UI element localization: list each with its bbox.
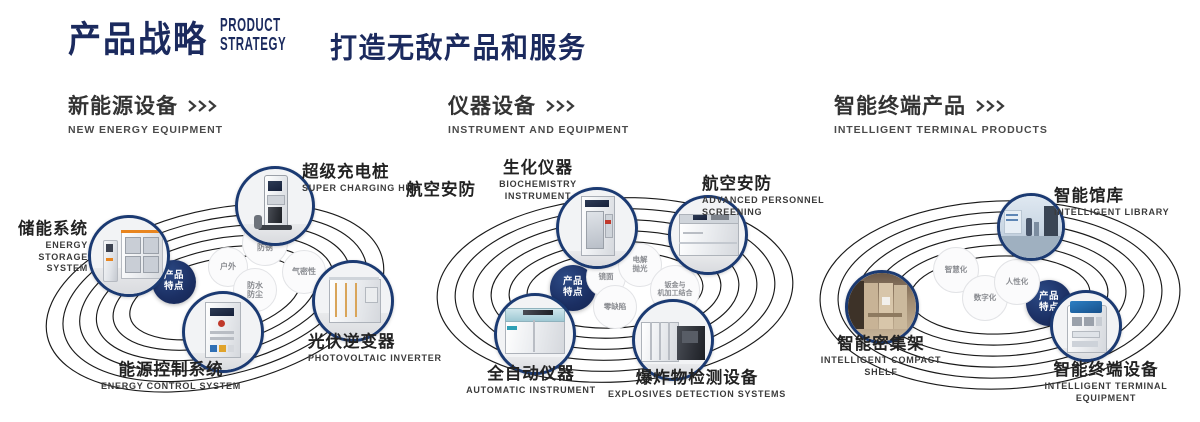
cluster-new-energy: 产品 特点 户外 防腐 防锈 气密性 防水 防尘 <box>30 165 430 422</box>
section-title-terminal: 智能终端产品 INTELLIGENT TERMINAL PRODUCTS <box>834 96 1048 136</box>
section-title-en: NEW ENERGY EQUIPMENT <box>68 125 223 136</box>
intelligent-terminal-image <box>1053 293 1119 359</box>
node-pv-inverter[interactable] <box>312 260 394 342</box>
feature-bubble-humanized: 人性化 <box>994 259 1040 305</box>
page-title-en-line1: PRODUCT <box>220 16 286 34</box>
page-title-en-line2: STRATEGY <box>220 35 286 53</box>
label-energy-storage: 储能系统 ENERGY STORAGE SYSTEM <box>0 220 88 274</box>
label-automatic-instrument: 全自动仪器 AUTOMATIC INSTRUMENT <box>442 365 620 397</box>
chevron-right-icon <box>976 100 1005 112</box>
energy-storage-image <box>91 218 167 294</box>
node-intelligent-terminal[interactable] <box>1050 290 1122 362</box>
section-title-instrument: 仪器设备 INSTRUMENT AND EQUIPMENT <box>448 96 629 136</box>
node-automatic-instrument[interactable] <box>494 293 576 375</box>
node-compact-shelf[interactable] <box>845 270 919 344</box>
automatic-instrument-image <box>497 296 573 372</box>
label-biochemistry-instrument: 生化仪器 BIOCHEMISTRY INSTRUMENT <box>478 159 598 202</box>
page-slogan: 打造无敌产品和服务 <box>330 34 587 63</box>
label-compact-shelf: 智能密集架 INTELLIGENT COMPACT SHELF <box>816 335 946 378</box>
label-intelligent-library: 智能馆库 INTELLIGENT LIBRARY <box>1054 187 1194 219</box>
label-energy-control: 能源控制系统 ENERGY CONTROL SYSTEM <box>86 361 256 393</box>
cluster-instrument: 产品 特点 镜面 电解 抛光 钣金与 机加工结合 零缺陷 航空安防 <box>420 165 820 422</box>
page-title-cn: 产品战略 <box>68 21 208 57</box>
page-title: 产品战略 PRODUCT STRATEGY <box>68 24 292 57</box>
section-title-cn: 新能源设备 <box>68 96 178 117</box>
section-title-en: INTELLIGENT TERMINAL PRODUCTS <box>834 125 1048 136</box>
cluster-terminal: 产品 特点 智慧化 数字化 人性化 智能馆库 <box>800 165 1200 422</box>
intelligent-library-image <box>1000 196 1062 258</box>
label-intelligent-terminal: 智能终端设备 INTELLIGENT TERMINAL EQUIPMENT <box>1016 361 1196 404</box>
section-title-cn: 智能终端产品 <box>834 96 966 117</box>
section-title-cn: 仪器设备 <box>448 96 536 117</box>
feature-bubble-zerodefect: 零缺陷 <box>593 285 637 329</box>
page-title-en: PRODUCT STRATEGY <box>220 16 286 53</box>
compact-shelf-image <box>848 273 916 341</box>
energy-control-image <box>185 294 261 370</box>
label-explosives-detection: 爆炸物检测设备 EXPLOSIVES DETECTION SYSTEMS <box>602 369 792 401</box>
product-strategy-infographic: 产品战略 PRODUCT STRATEGY 打造无敌产品和服务 新能源设备 NE… <box>0 0 1200 422</box>
charging-hub-image <box>238 169 312 243</box>
section-title-en: INSTRUMENT AND EQUIPMENT <box>448 125 629 136</box>
chevron-right-icon <box>546 100 575 112</box>
chevron-right-icon <box>188 100 217 112</box>
section-title-new-energy: 新能源设备 NEW ENERGY EQUIPMENT <box>68 96 223 136</box>
explosives-detection-image <box>635 302 711 378</box>
node-energy-storage[interactable] <box>88 215 170 297</box>
pv-inverter-image <box>315 263 391 339</box>
